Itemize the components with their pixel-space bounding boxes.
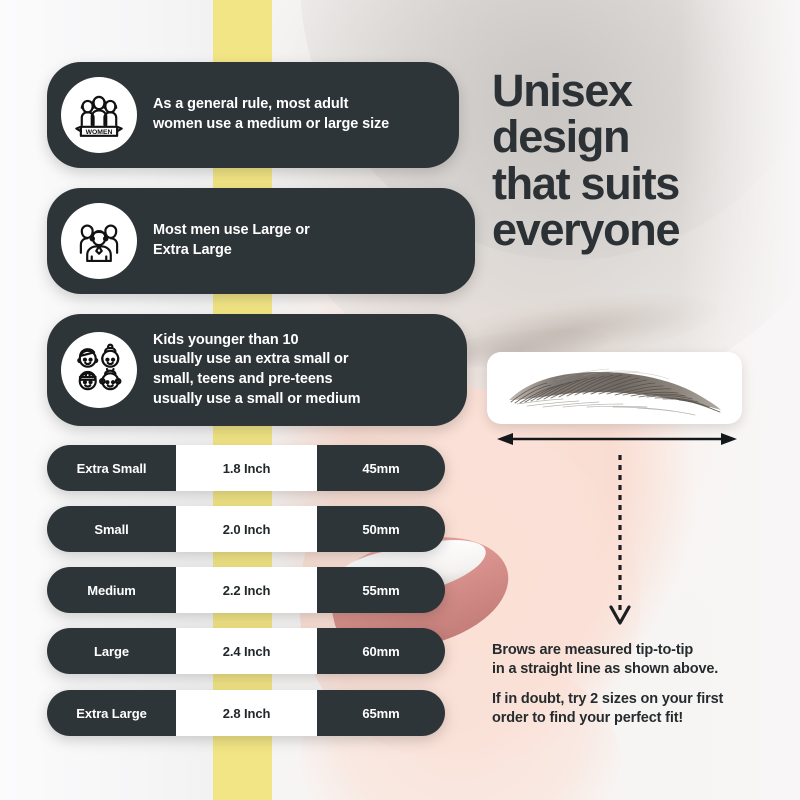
size-mm: 60mm xyxy=(362,644,399,659)
size-mm-cell: 60mm xyxy=(317,628,445,674)
size-name: Extra Small xyxy=(77,461,147,476)
size-mm: 55mm xyxy=(362,583,399,598)
size-name-cell: Medium xyxy=(47,567,176,613)
size-name-cell: Extra Large xyxy=(47,690,176,736)
size-inch: 2.4 Inch xyxy=(223,644,271,659)
info-card-women: WOMEN As a general rule, most adult wome… xyxy=(47,62,459,168)
size-inch: 2.0 Inch xyxy=(223,522,271,537)
size-inch: 2.2 Inch xyxy=(223,583,271,598)
size-mm-cell: 65mm xyxy=(317,690,445,736)
eyebrow-sample-card xyxy=(487,352,742,424)
size-inch-cell: 2.2 Inch xyxy=(176,567,317,613)
size-inch-cell: 1.8 Inch xyxy=(176,445,317,491)
eyebrow-illustration xyxy=(487,352,742,424)
note-measure-instruction: Brows are measured tip-to-tip in a strai… xyxy=(492,641,718,680)
size-mm-cell: 45mm xyxy=(317,445,445,491)
size-inch-cell: 2.4 Inch xyxy=(176,628,317,674)
info-card-men: Most men use Large or Extra Large xyxy=(47,188,475,294)
size-mm: 65mm xyxy=(362,706,399,721)
kids-group-icon xyxy=(61,332,137,408)
info-card-men-text: Most men use Large or Extra Large xyxy=(153,221,310,260)
table-row: Medium 2.2 Inch 55mm xyxy=(47,567,445,613)
size-name: Extra Large xyxy=(76,706,146,721)
dashed-down-arrow-icon xyxy=(600,455,640,630)
size-name-cell: Extra Small xyxy=(47,445,176,491)
men-group-icon-glyph xyxy=(70,212,128,270)
size-mm-cell: 50mm xyxy=(317,506,445,552)
info-card-women-text: As a general rule, most adult women use … xyxy=(153,95,389,134)
table-row: Extra Large 2.8 Inch 65mm xyxy=(47,690,445,736)
women-group-icon-glyph: WOMEN xyxy=(70,86,128,144)
double-headed-arrow-icon xyxy=(497,430,737,448)
note-sizing-advice: If in doubt, try 2 sizes on your first o… xyxy=(492,690,723,729)
size-mm: 50mm xyxy=(362,522,399,537)
kids-group-icon-glyph xyxy=(69,340,129,400)
measure-width-arrow xyxy=(497,430,737,448)
size-name: Large xyxy=(94,644,129,659)
women-banner-text: WOMEN xyxy=(86,129,113,136)
men-group-icon xyxy=(61,203,137,279)
flow-dashed-arrow xyxy=(600,455,640,630)
size-mm: 45mm xyxy=(362,461,399,476)
size-inch: 2.8 Inch xyxy=(223,706,271,721)
size-inch: 1.8 Inch xyxy=(223,461,271,476)
page-title: Unisex design that suits everyone xyxy=(492,68,792,253)
table-row: Large 2.4 Inch 60mm xyxy=(47,628,445,674)
info-card-kids-text: Kids younger than 10 usually use an extr… xyxy=(153,331,360,410)
size-inch-cell: 2.0 Inch xyxy=(176,506,317,552)
size-name: Small xyxy=(94,522,128,537)
infographic-canvas: WOMEN As a general rule, most adult wome… xyxy=(0,0,800,800)
size-name: Medium xyxy=(87,583,136,598)
size-mm-cell: 55mm xyxy=(317,567,445,613)
size-name-cell: Large xyxy=(47,628,176,674)
size-name-cell: Small xyxy=(47,506,176,552)
table-row: Small 2.0 Inch 50mm xyxy=(47,506,445,552)
women-group-icon: WOMEN xyxy=(61,77,137,153)
info-card-kids: Kids younger than 10 usually use an extr… xyxy=(47,314,467,426)
table-row: Extra Small 1.8 Inch 45mm xyxy=(47,445,445,491)
size-inch-cell: 2.8 Inch xyxy=(176,690,317,736)
